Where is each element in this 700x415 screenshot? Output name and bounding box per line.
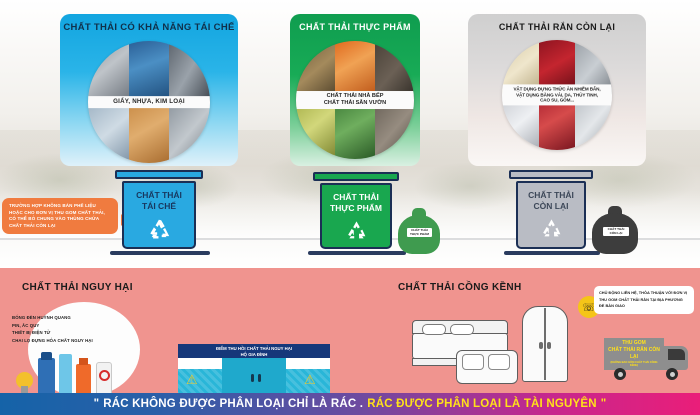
recycle-icon — [146, 217, 172, 243]
truck-text-line3: (KHÔNG BAO GỒM CHẤT THẢI CỒNG KỀNH) — [604, 361, 664, 368]
photo-caption-remaining: VẬT DỤNG ĐỰNG THỨC ĂN NHIỄM BẨN, VẬT DỤN… — [502, 84, 612, 105]
slogan-part-1: RÁC KHÔNG ĐƯỢC PHÂN LOẠI CHỈ LÀ RÁC . — [103, 398, 363, 410]
category-card-food[interactable]: CHẤT THẢI THỰC PHẨM CHẤT THẢI NHÀ BẾP CH… — [290, 14, 420, 166]
category-card-remaining[interactable]: CHẤT THẢI RẮN CÒN LẠI VẬT DỤNG ĐỰNG THỨC… — [468, 14, 646, 166]
bin-lid — [509, 170, 593, 179]
bag-tag-food: CHẤT THẢI THỰC PHẨM — [407, 228, 432, 237]
slogan-quote-open: " — [94, 398, 100, 410]
bag-food: CHẤT THẢI THỰC PHẨM — [398, 208, 440, 254]
category-card-recyclable[interactable]: CHẤT THẢI CÓ KHẢ NĂNG TÁI CHẾ GIẤY, NHỰA… — [60, 14, 238, 166]
section-title-hazardous: CHẤT THẢI NGUY HẠI — [22, 282, 133, 293]
truck-window — [668, 349, 685, 360]
callout-bulky: CHỦ ĐỘNG LIÊN HỆ, THỎA THUẬN VỚI ĐƠN VỊ … — [594, 286, 694, 314]
bag-remaining: CHẤT THẢI CÒN LẠI — [592, 206, 638, 254]
hazardous-items-illustration — [14, 350, 142, 396]
warning-icon-right: ⚠ — [304, 372, 316, 388]
bin-body: CHẤT THẢI THỰC PHẨM — [320, 183, 392, 249]
truck-wheel-rear — [614, 368, 626, 380]
bag-tag-remaining: CHẤT THẢI CÒN LẠI — [603, 227, 629, 236]
photo-circle-remaining: VẬT DỤNG ĐỰNG THỨC ĂN NHIỄM BẨN, VẬT DỤN… — [502, 40, 612, 150]
slogan-quote-close: " — [601, 398, 607, 410]
bin-shadow — [308, 251, 406, 255]
bin-shadow — [504, 251, 600, 255]
bin-lid — [313, 172, 399, 181]
section-title-bulky: CHẤT THẢI CỒNG KỀNH — [398, 282, 521, 293]
photo-caption-recyclable: GIẤY, NHỰA, KIM LOẠI — [88, 96, 210, 108]
bin-label-food: CHẤT THẢI THỰC PHẨM — [330, 192, 382, 214]
photo-caption-food: CHẤT THẢI NHÀ BẾP CHẤT THẢI SÂN VƯỜN — [296, 91, 414, 109]
bin-body: CHẤT THẢI CÒN LẠI — [516, 181, 586, 249]
slogan-part-2: RÁC ĐƯỢC PHÂN LOẠI LÀ TÀI NGUYÊN — [367, 398, 597, 410]
hazardous-dropoff-station[interactable]: ĐIỂM THU HỒI CHẤT THẢI NGUY HẠI HỘ GIA Đ… — [178, 344, 330, 396]
callout-recyclable: TRƯỜNG HỢP KHÔNG BÁN PHẾ LIỆU HOẶC CHO Đ… — [2, 198, 118, 234]
bin-body: CHẤT THẢI TÁI CHẾ — [122, 181, 196, 249]
bulky-furniture-illustration — [404, 298, 574, 390]
bin-shadow — [110, 251, 210, 255]
truck-body: THU GOM CHẤT THẢI RẮN CÒN LẠI (KHÔNG BAO… — [604, 338, 664, 370]
card-title-food: CHẤT THẢI THỰC PHẨM — [290, 14, 420, 32]
truck-wheel-front — [666, 368, 678, 380]
recycle-icon — [539, 217, 564, 242]
waste-sorting-top-section: CHẤT THẢI CÓ KHẢ NĂNG TÁI CHẾ GIẤY, NHỰA… — [0, 0, 700, 268]
bin-label-remaining: CHẤT THẢI CÒN LẠI — [528, 190, 574, 212]
card-title-recyclable: CHẤT THẢI CÓ KHẢ NĂNG TÁI CHẾ — [60, 14, 238, 33]
card-title-remaining: CHẤT THẢI RẮN CÒN LẠI — [468, 14, 646, 32]
bin-lid — [115, 170, 203, 179]
warning-icon-left: ⚠ — [186, 372, 198, 388]
slogan-banner: " RÁC KHÔNG ĐƯỢC PHÂN LOẠI CHỈ LÀ RÁC . … — [0, 393, 700, 415]
truck-text-line1: THU GOM — [622, 340, 646, 347]
truck-text-line2: CHẤT THẢI RẮN CÒN LẠI — [604, 347, 664, 361]
bin-label-recyclable: CHẤT THẢI TÁI CHẾ — [136, 190, 182, 212]
hazardous-item-list: BÓNG ĐÈN HUỲNH QUANG PIN, ẮC QUY THIẾT B… — [12, 314, 93, 344]
photo-circle-recyclable: GIẤY, NHỰA, KIM LOẠI — [88, 41, 210, 163]
recycle-icon — [344, 219, 369, 244]
photo-circle-food: CHẤT THẢI NHÀ BẾP CHẤT THẢI SÂN VƯỜN — [296, 41, 414, 159]
